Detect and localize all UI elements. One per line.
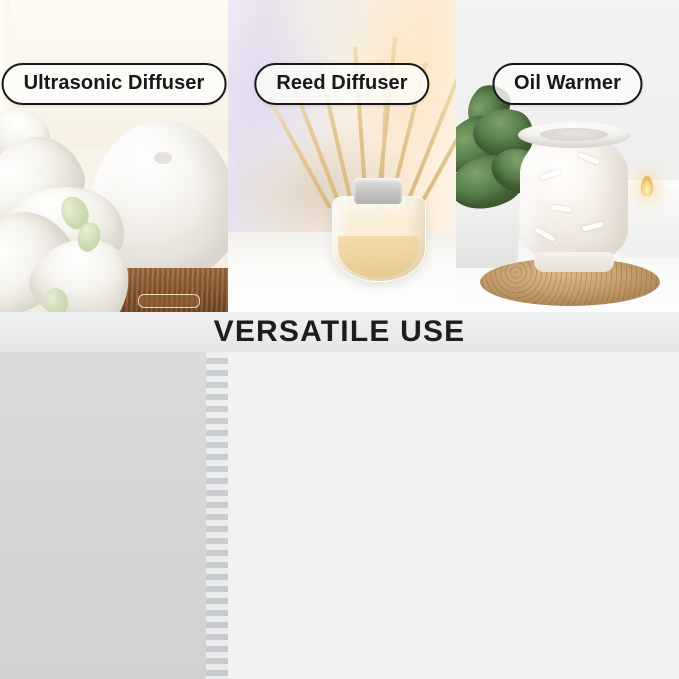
label-pill-oil-warmer: Oil Warmer [492, 63, 643, 105]
oil-warmer-body [520, 136, 628, 262]
panel-fine-mist-spray-bottle: WHITE TEA Fine Mist Spray Bottle [0, 352, 228, 679]
panel-waterless-nebulizer-diffuser: Waterless / Nebulizer Diffuser [456, 352, 679, 679]
dragonfly-relief-icon [534, 227, 556, 242]
oil-warmer-dish [518, 122, 630, 148]
label-pill-reed-diffuser: Reed Diffuser [254, 63, 429, 105]
hand-palm [26, 588, 176, 679]
bottom-panel-row: WHITE TEA Fine Mist Spray Bottle [0, 352, 679, 679]
label-text: Oil Warmer [514, 72, 621, 96]
dragonfly-relief-icon [550, 204, 572, 212]
versatile-use-infographic: Ultrasonic Diffuser Reed Diffuser [0, 0, 679, 679]
panel-reed-diffuser: Reed Diffuser [228, 0, 456, 312]
dragonfly-relief-icon [578, 152, 600, 165]
banner-title: VERSATILE USE [214, 317, 466, 347]
dragonfly-relief-icon [582, 221, 605, 231]
oil-warmer-foot [534, 252, 614, 272]
ultrasonic-base-badge [138, 294, 200, 308]
label-text: Ultrasonic Diffuser [24, 72, 205, 96]
reed-diffuser-collar [354, 178, 402, 204]
panel-hvac-scent-system: HVAC Scent Type System [228, 352, 456, 679]
panel-ultrasonic-diffuser: Ultrasonic Diffuser [0, 0, 228, 312]
versatile-use-banner: VERSATILE USE [0, 312, 679, 352]
spray-background-blinds [206, 352, 228, 679]
panel-oil-warmer: Oil Warmer [456, 0, 679, 312]
label-text: Reed Diffuser [276, 72, 407, 96]
dragonfly-relief-icon [540, 169, 562, 181]
candle-flame-icon [641, 176, 653, 196]
label-pill-ultrasonic-diffuser: Ultrasonic Diffuser [2, 63, 227, 105]
top-panel-row: Ultrasonic Diffuser Reed Diffuser [0, 0, 679, 312]
